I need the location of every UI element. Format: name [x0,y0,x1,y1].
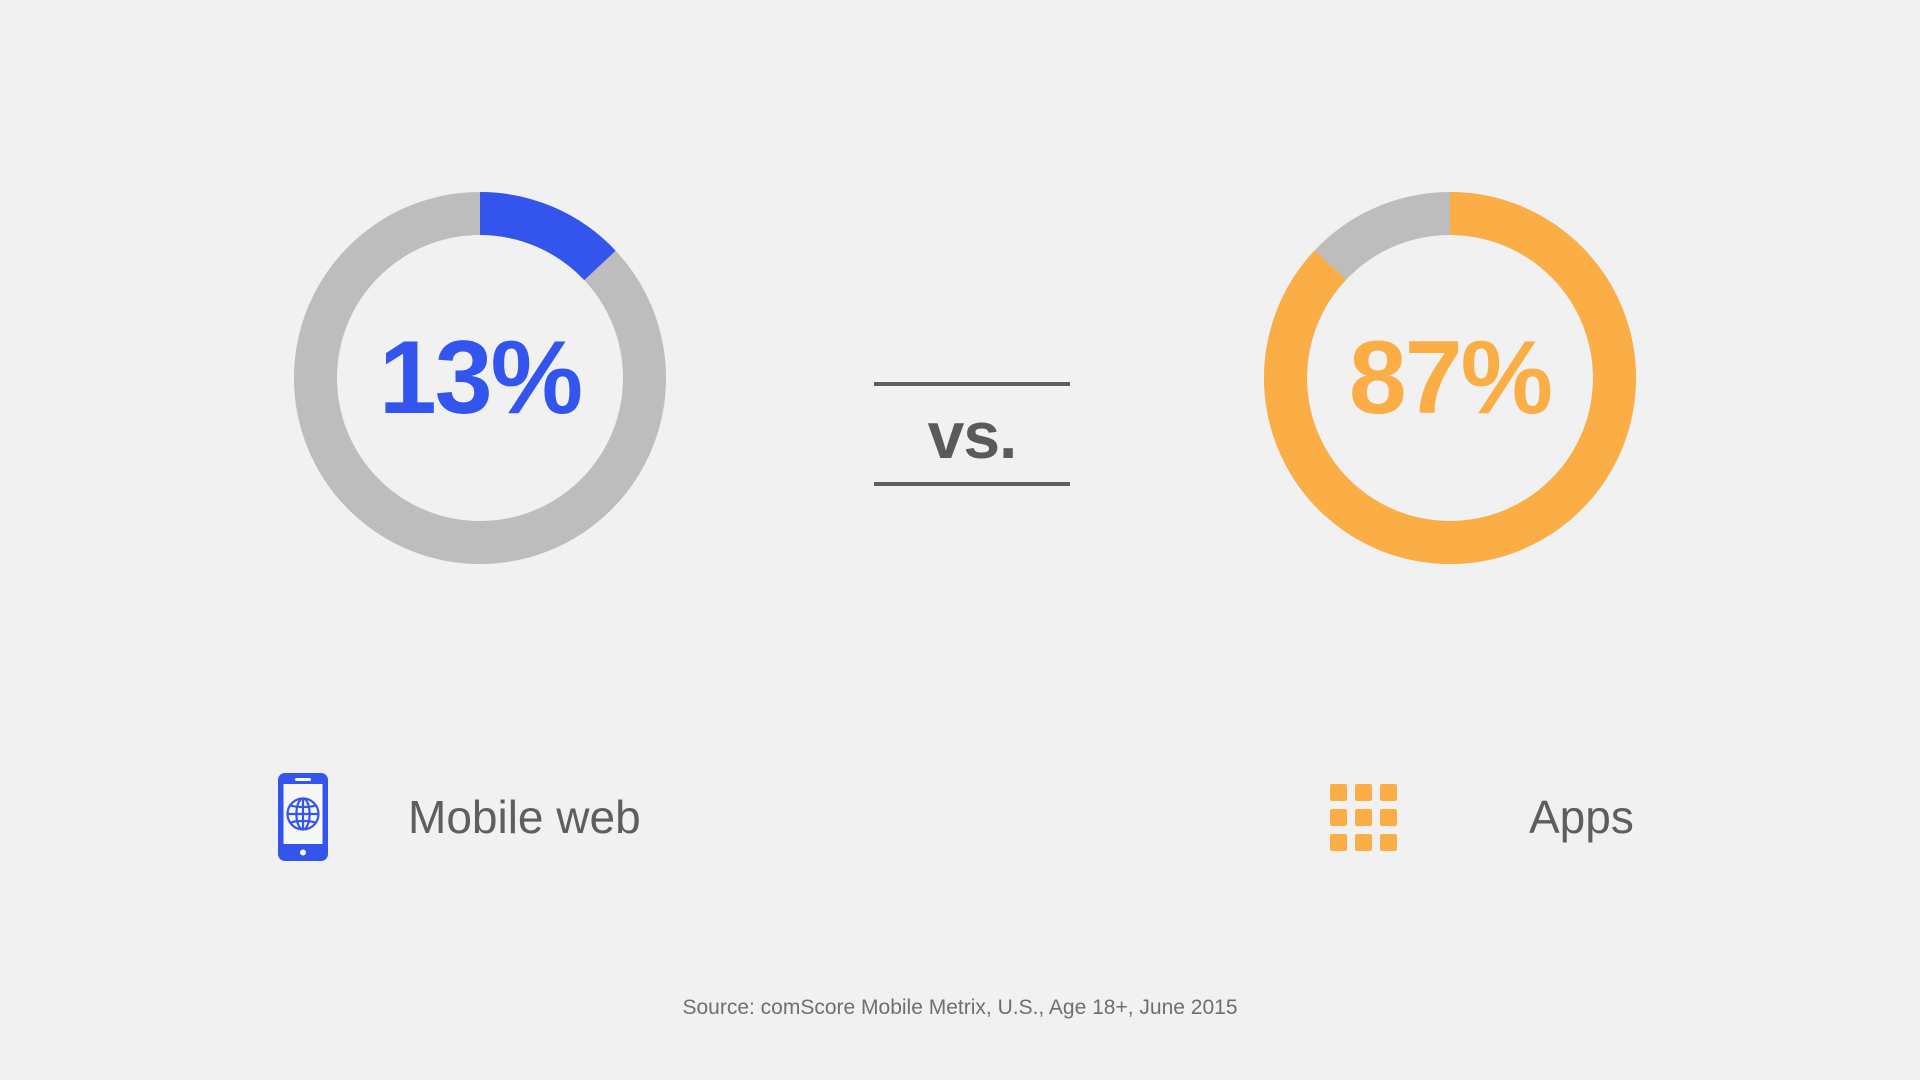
apps-grid-cell [1330,809,1347,826]
apps-grid-cell [1330,834,1347,851]
legend-label-apps: Apps [1529,794,1634,840]
versus-label: vs. [874,386,1070,482]
legend-apps: Apps [1330,762,1750,872]
mobile-phone-globe-icon-svg [276,771,330,863]
apps-grid-cell [1355,809,1372,826]
apps-grid-cell [1380,784,1397,801]
apps-grid-icon-wrap [1330,784,1397,851]
legend-mobile-web: Mobile web [276,762,696,872]
globe-glyph [288,799,319,830]
phone-home-button [300,850,306,856]
mobile-phone-globe-icon [276,771,330,863]
apps-percent-label: 87% [1264,192,1636,564]
apps-grid-cell [1380,809,1397,826]
legend-label-mobile-web: Mobile web [408,794,641,840]
source-note: Source: comScore Mobile Metrix, U.S., Ag… [0,996,1920,1020]
phone-speaker [295,778,311,781]
mobile-web-donut-chart: 13% [294,192,666,564]
apps-donut-chart: 87% [1264,192,1636,564]
infographic-canvas: 13% vs. 87% [0,0,1920,1080]
apps-grid-cell [1330,784,1347,801]
apps-grid-cell [1355,784,1372,801]
versus-rule-bottom [874,482,1070,486]
apps-grid-icon [1330,784,1397,851]
apps-grid-cell [1380,834,1397,851]
mobile-web-percent-label: 13% [294,192,666,564]
apps-grid-cell [1355,834,1372,851]
versus-separator: vs. [874,382,1070,486]
